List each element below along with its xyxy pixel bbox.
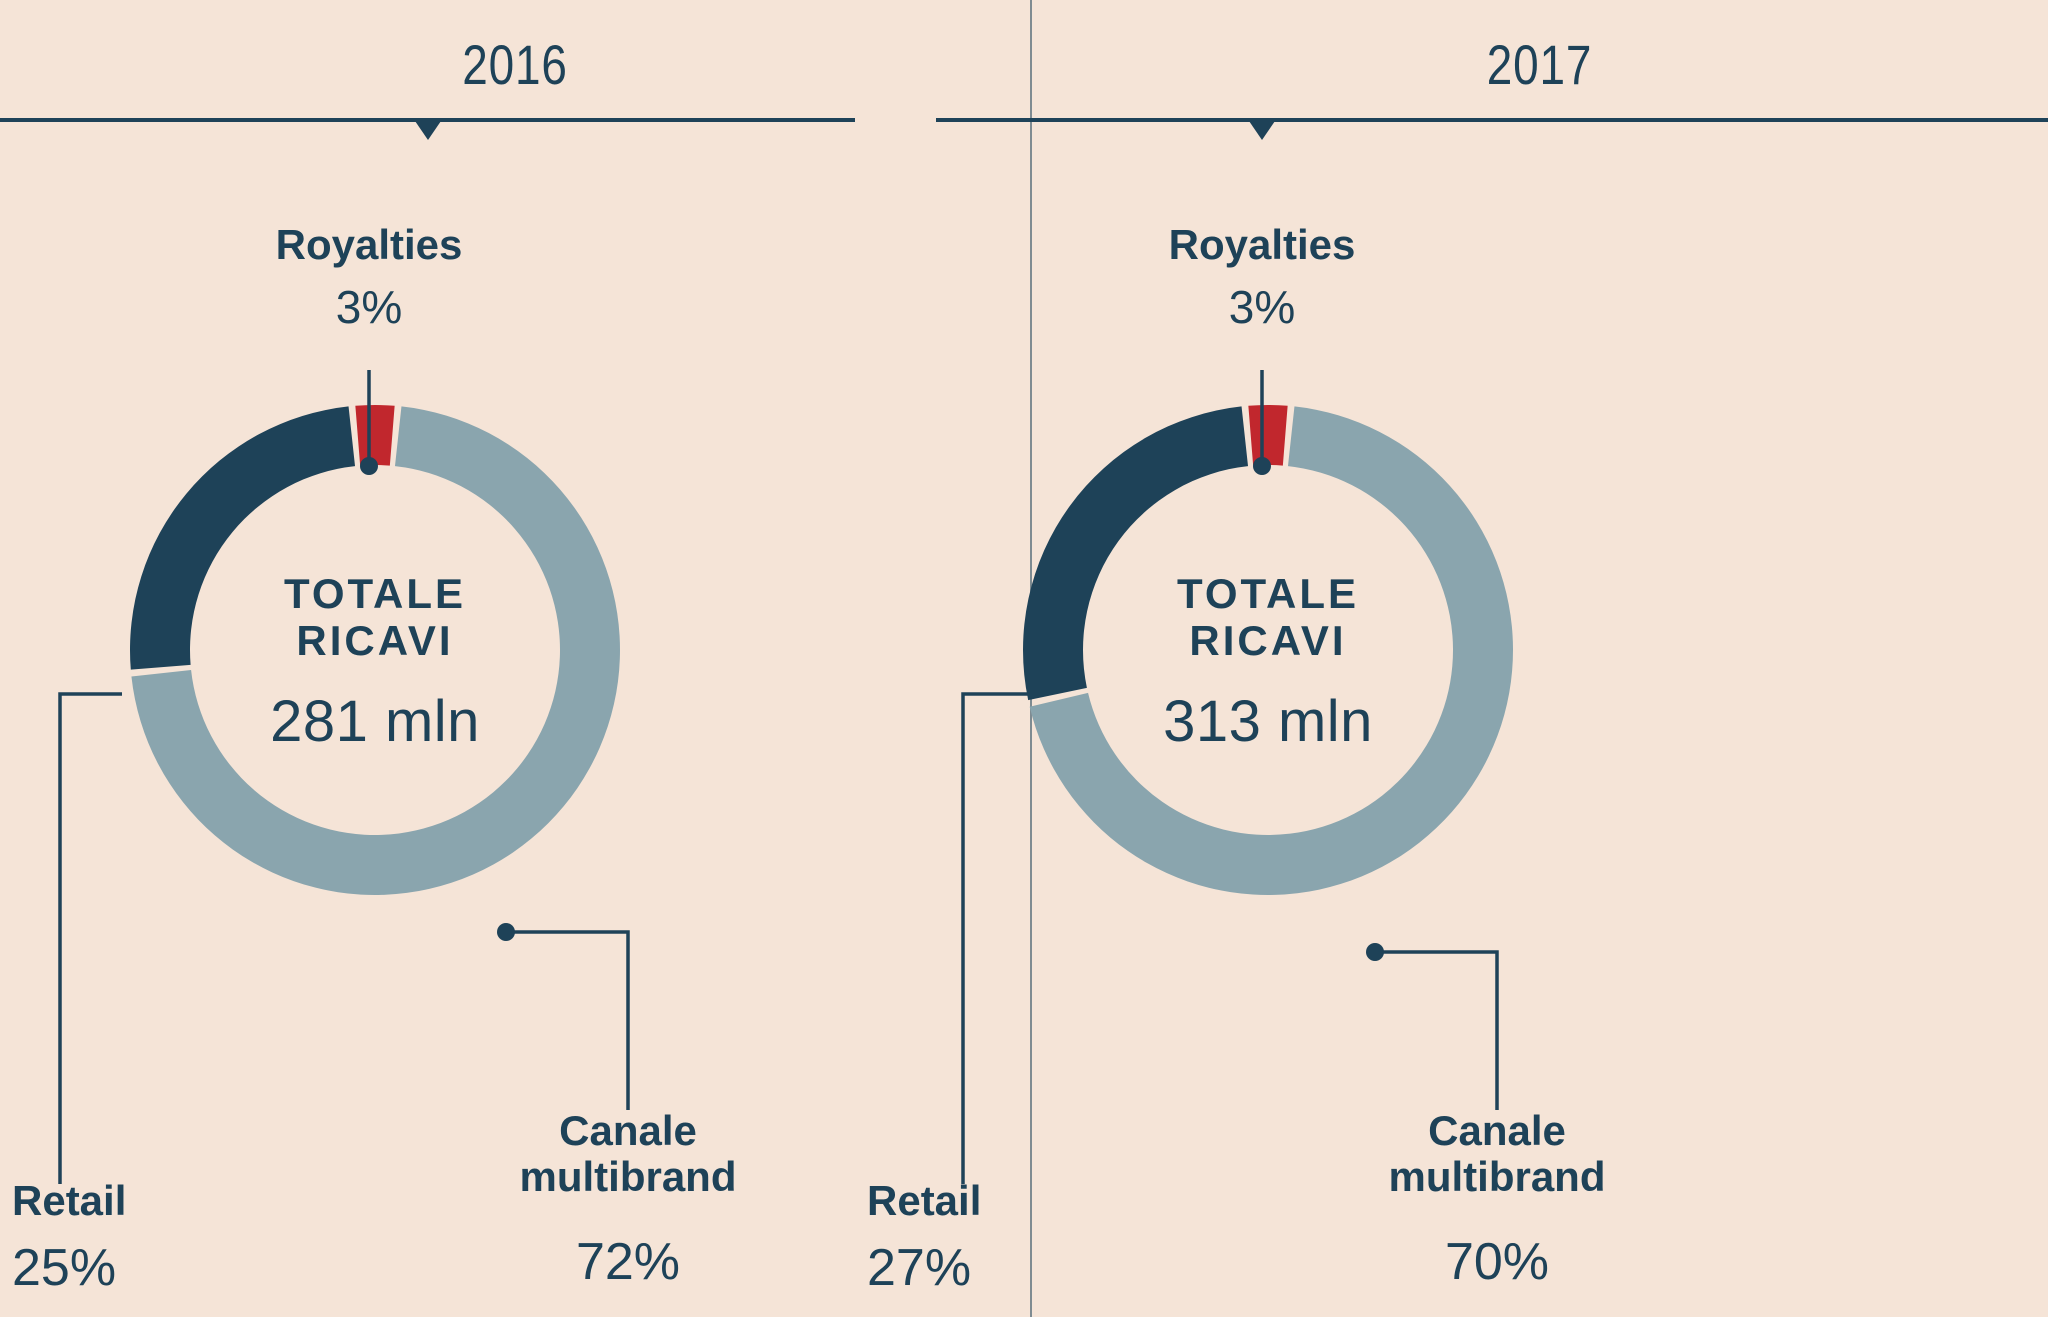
callout-multibrand-value: 70% <box>1332 1234 1662 1291</box>
leader-line-royalties-2017 <box>1248 370 1288 480</box>
leader-line-retail-2016 <box>40 690 130 1190</box>
callout-retail-label: Retail <box>12 1178 312 1224</box>
callout-multibrand-label: Canale multibrand <box>1332 1108 1662 1200</box>
panel-2016: 2016 TOTALE RICAVI 281 mln Royalties 3% <box>0 0 1030 1317</box>
leader-line-retail-2017 <box>931 690 1051 1190</box>
header-pointer-triangle <box>1249 121 1275 140</box>
leader-line-multibrand-2016 <box>495 920 655 1120</box>
callout-royalties-value: 3% <box>204 282 534 333</box>
callout-multibrand-label: Canale multibrand <box>463 1108 793 1200</box>
callout-retail-value: 25% <box>12 1240 312 1297</box>
callout-multibrand-value: 72% <box>463 1234 793 1291</box>
header-rule-line <box>936 118 2048 122</box>
callout-multibrand-2017: Canale multibrand 70% <box>1332 1108 1662 1292</box>
year-title-2016: 2016 <box>93 32 938 97</box>
header-rule-2016 <box>0 118 1030 144</box>
callout-retail-label: Retail <box>867 1178 1167 1224</box>
header-rule-2017 <box>1031 118 2048 144</box>
center-value: 313 mln <box>1108 690 1428 755</box>
callout-multibrand-2016: Canale multibrand 72% <box>463 1108 793 1292</box>
infographic-root: 2016 TOTALE RICAVI 281 mln Royalties 3% <box>0 0 2048 1317</box>
callout-royalties-label: Royalties <box>204 222 534 268</box>
center-title: TOTALE RICAVI <box>1108 570 1428 664</box>
callout-royalties-label: Royalties <box>1097 222 1427 268</box>
callout-royalties-value: 3% <box>1097 282 1427 333</box>
leader-line-royalties-2016 <box>355 370 395 480</box>
callout-royalties-2016: Royalties 3% <box>204 222 534 333</box>
leader-line-multibrand-2017 <box>1364 940 1534 1120</box>
header-pointer-triangle <box>415 121 441 140</box>
callout-retail-2016: Retail 25% <box>12 1178 312 1297</box>
callout-royalties-2017: Royalties 3% <box>1097 222 1427 333</box>
callout-retail-value: 27% <box>867 1240 1167 1297</box>
panel-2017: 2017 TOTALE RICAVI 313 mln Royalties 3% <box>1031 0 2048 1317</box>
donut-center-2016: TOTALE RICAVI 281 mln <box>215 570 535 755</box>
center-value: 281 mln <box>215 690 535 755</box>
donut-center-2017: TOTALE RICAVI 313 mln <box>1108 570 1428 755</box>
callout-retail-2017: Retail 27% <box>867 1178 1167 1297</box>
center-title: TOTALE RICAVI <box>215 570 535 664</box>
year-title-2017: 2017 <box>1123 32 1957 97</box>
